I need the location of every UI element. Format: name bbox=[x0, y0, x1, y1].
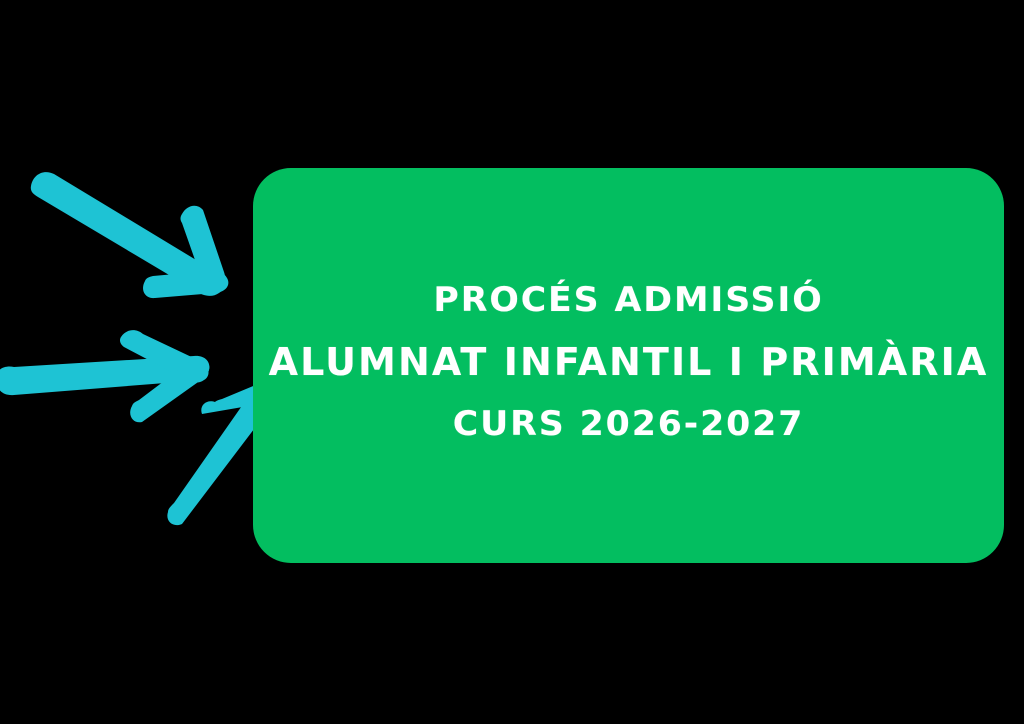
headline-line-2: ALUMNAT INFANTIL I PRIMÀRIA bbox=[253, 343, 1004, 381]
callout-text-block: PROCÉS ADMISSIÓ ALUMNAT INFANTIL I PRIMÀ… bbox=[253, 283, 1004, 449]
headline-line-3: CURS 2026-2027 bbox=[245, 407, 1011, 441]
headline-line-1: PROCÉS ADMISSIÓ bbox=[245, 283, 1011, 317]
arrow-top bbox=[31, 172, 229, 298]
callout-card: PROCÉS ADMISSIÓ ALUMNAT INFANTIL I PRIMÀ… bbox=[253, 168, 1004, 563]
poster-canvas: PROCÉS ADMISSIÓ ALUMNAT INFANTIL I PRIMÀ… bbox=[0, 0, 1024, 724]
arrow-middle bbox=[0, 330, 209, 422]
